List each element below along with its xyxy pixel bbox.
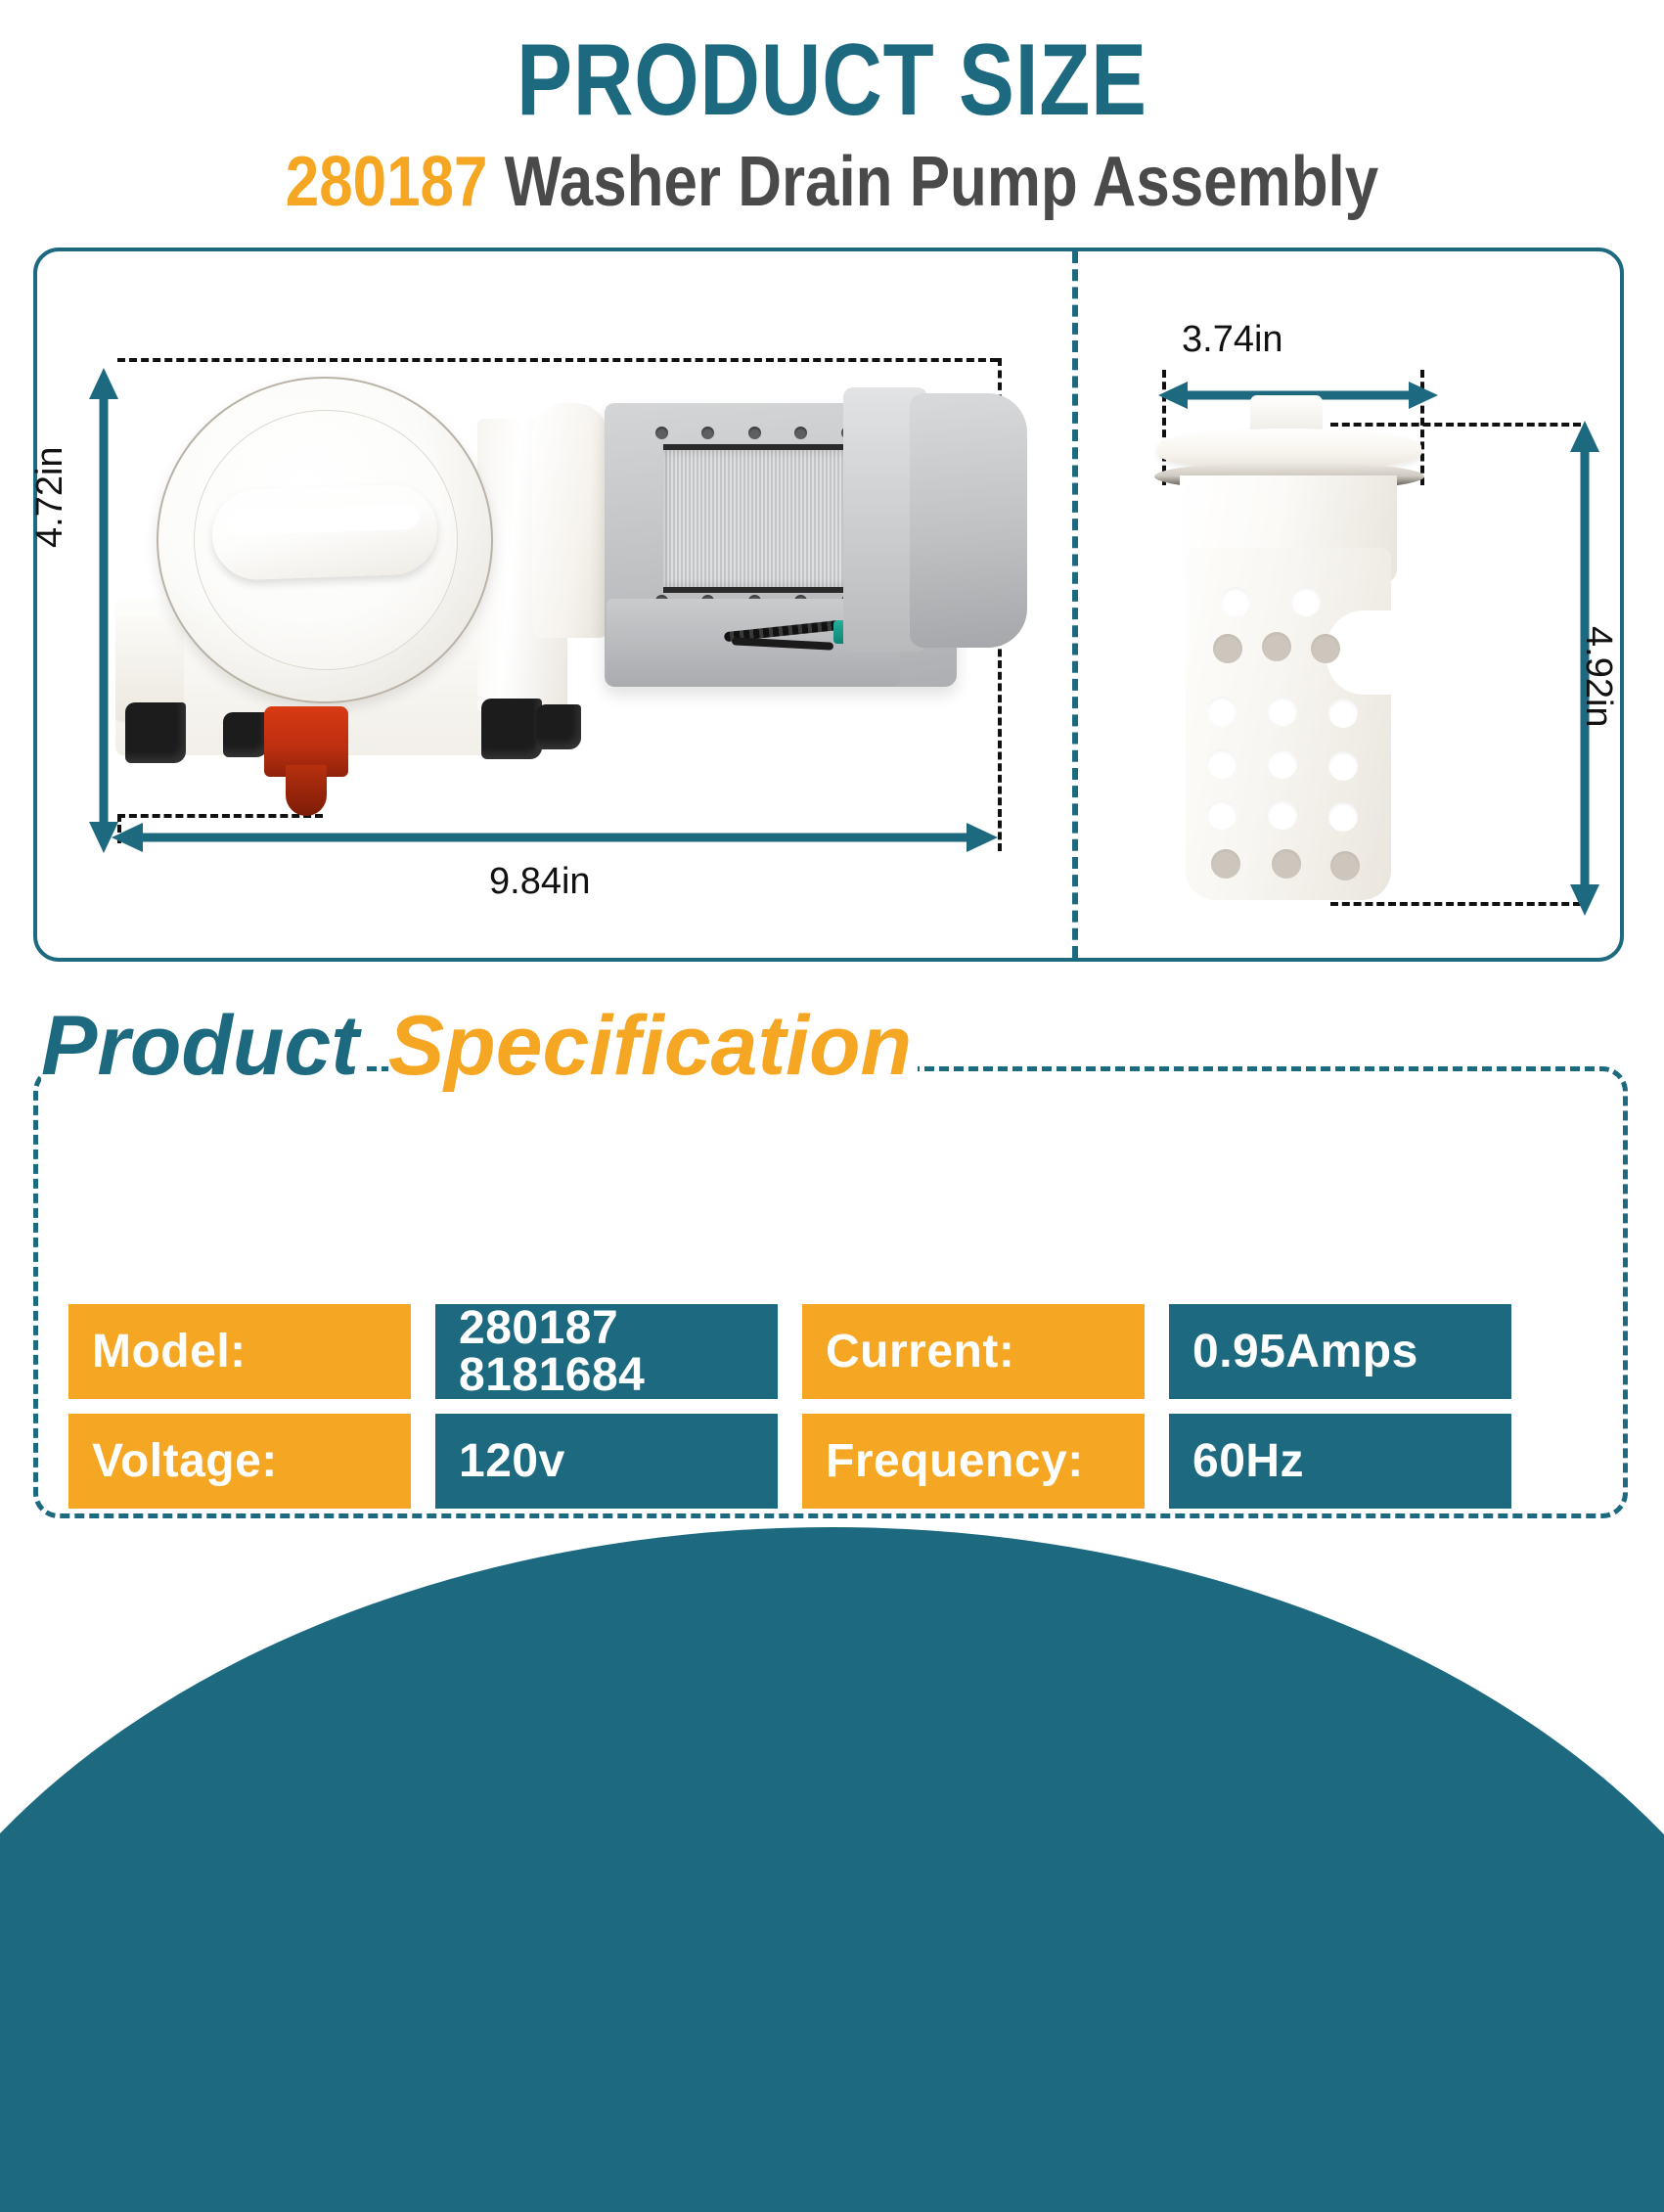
pump-clip-right xyxy=(481,699,542,759)
height-label-filter: 4.92in xyxy=(1577,626,1619,728)
filter-guide-bottom-horizontal xyxy=(1330,902,1581,906)
filter-hole xyxy=(1207,697,1237,726)
filter-hole xyxy=(1328,751,1358,781)
filter-hole xyxy=(1311,634,1340,663)
pump-release-tab xyxy=(264,706,348,777)
width-arrow-bottom xyxy=(110,818,1000,857)
specification-heading-line2: Specification xyxy=(388,1005,918,1087)
pump-clip-left xyxy=(125,702,186,763)
spec-label-current: Current: xyxy=(802,1304,1145,1399)
filter-hole xyxy=(1328,802,1358,832)
pump-outlet-spout xyxy=(532,403,608,638)
filter-guide-top-horizontal xyxy=(1330,423,1581,427)
filter-hole xyxy=(1268,749,1297,779)
motor-bolt xyxy=(794,427,807,439)
width-label-bottom: 9.84in xyxy=(489,861,591,903)
filter-hole xyxy=(1207,749,1237,779)
motor-end-cap xyxy=(910,393,1027,648)
filter-hole xyxy=(1207,800,1237,830)
specification-heading: Product Specification xyxy=(41,1005,918,1087)
filter-hole xyxy=(1213,634,1242,663)
filter-hole xyxy=(1330,851,1360,880)
spec-label-model: Model: xyxy=(68,1304,411,1399)
spec-value-voltage: 120v xyxy=(435,1414,778,1509)
filter-hole xyxy=(1291,587,1321,616)
filter-hole xyxy=(1328,699,1358,728)
motor-bolt xyxy=(701,427,714,439)
height-label-left: 4.72in xyxy=(29,446,71,548)
filter-hole xyxy=(1262,632,1291,661)
filter-hole xyxy=(1272,849,1301,879)
filter-hole xyxy=(1221,587,1250,616)
motor-bolt xyxy=(655,427,668,439)
filter-hole xyxy=(1268,800,1297,830)
filter-hole xyxy=(1268,697,1297,726)
motor-bolt xyxy=(748,427,761,439)
panel-divider xyxy=(1072,251,1078,958)
filter-basket xyxy=(1186,548,1391,900)
spec-value-current: 0.95Amps xyxy=(1169,1304,1511,1399)
spec-label-frequency: Frequency: xyxy=(802,1414,1145,1509)
pump-clip-right-2 xyxy=(536,704,581,749)
specification-table: Model: 280187 8181684 Current: 0.95Amps … xyxy=(68,1304,1526,1509)
header-model-code: 280187 xyxy=(286,143,488,221)
specification-heading-line1: Product xyxy=(41,1005,365,1087)
page-title: PRODUCT SIZE xyxy=(150,29,1514,131)
page-header: PRODUCT SIZE 280187 Washer Drain Pump As… xyxy=(0,0,1664,243)
spec-value-model-line2: 8181684 xyxy=(459,1352,645,1399)
page-subtitle: 280187 Washer Drain Pump Assembly xyxy=(116,147,1548,217)
filter-hole xyxy=(1211,849,1240,879)
spec-value-model-line1: 280187 xyxy=(459,1305,618,1352)
width-label-filter: 3.74in xyxy=(1182,319,1283,361)
pump-clip-center xyxy=(223,712,268,757)
filter-cap-knob xyxy=(1250,395,1323,432)
spec-value-model: 280187 8181684 xyxy=(435,1304,778,1399)
spec-label-voltage: Voltage: xyxy=(68,1414,411,1509)
spec-value-frequency: 60Hz xyxy=(1169,1414,1511,1509)
bottom-wave-decoration xyxy=(0,1527,1664,2212)
pump-filter-knob xyxy=(210,483,438,581)
header-subtitle-text: Washer Drain Pump Assembly xyxy=(505,143,1379,221)
pump-housing xyxy=(157,377,493,703)
dimension-guide-top-left xyxy=(117,358,998,362)
pump-housing-inner xyxy=(194,410,458,670)
